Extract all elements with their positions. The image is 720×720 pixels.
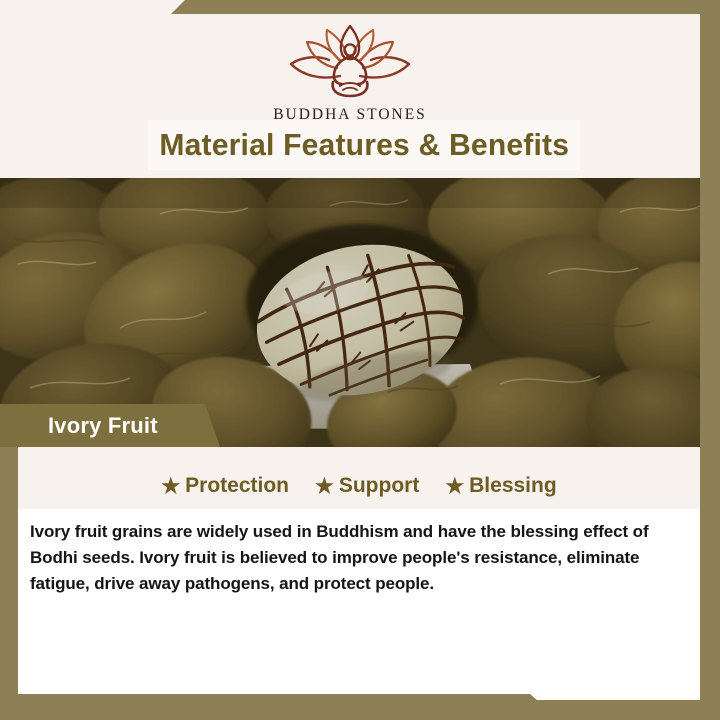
content-top-strip [18,447,700,463]
content-section: ★ Protection ★ Support ★ Blessing Ivory … [0,447,700,700]
infographic-page: BUDDHA STONES Material Features & Benefi… [0,0,720,720]
benefit-label: Blessing [469,474,557,498]
photo-label-ribbon: Ivory Fruit [0,404,220,447]
star-icon: ★ [161,476,180,497]
right-border-rail [700,0,720,720]
benefit-item-blessing: ★ Blessing [445,474,556,498]
benefit-item-protection: ★ Protection [161,474,289,498]
photo-label-text: Ivory Fruit [0,413,158,439]
page-title: Material Features & Benefits [159,127,569,163]
benefits-row: ★ Protection ★ Support ★ Blessing [18,463,700,509]
lotus-meditation-icon [277,24,423,102]
left-border-rail [0,447,18,720]
benefit-label: Support [339,474,419,498]
description-paragraph: Ivory fruit grains are widely used in Bu… [30,519,666,596]
star-icon: ★ [445,476,464,497]
title-banner: Material Features & Benefits [148,120,580,170]
benefit-item-support: ★ Support [315,474,419,498]
star-icon: ★ [315,476,334,497]
content-card: BUDDHA STONES Material Features & Benefi… [0,0,700,700]
benefit-label: Protection [185,474,289,498]
